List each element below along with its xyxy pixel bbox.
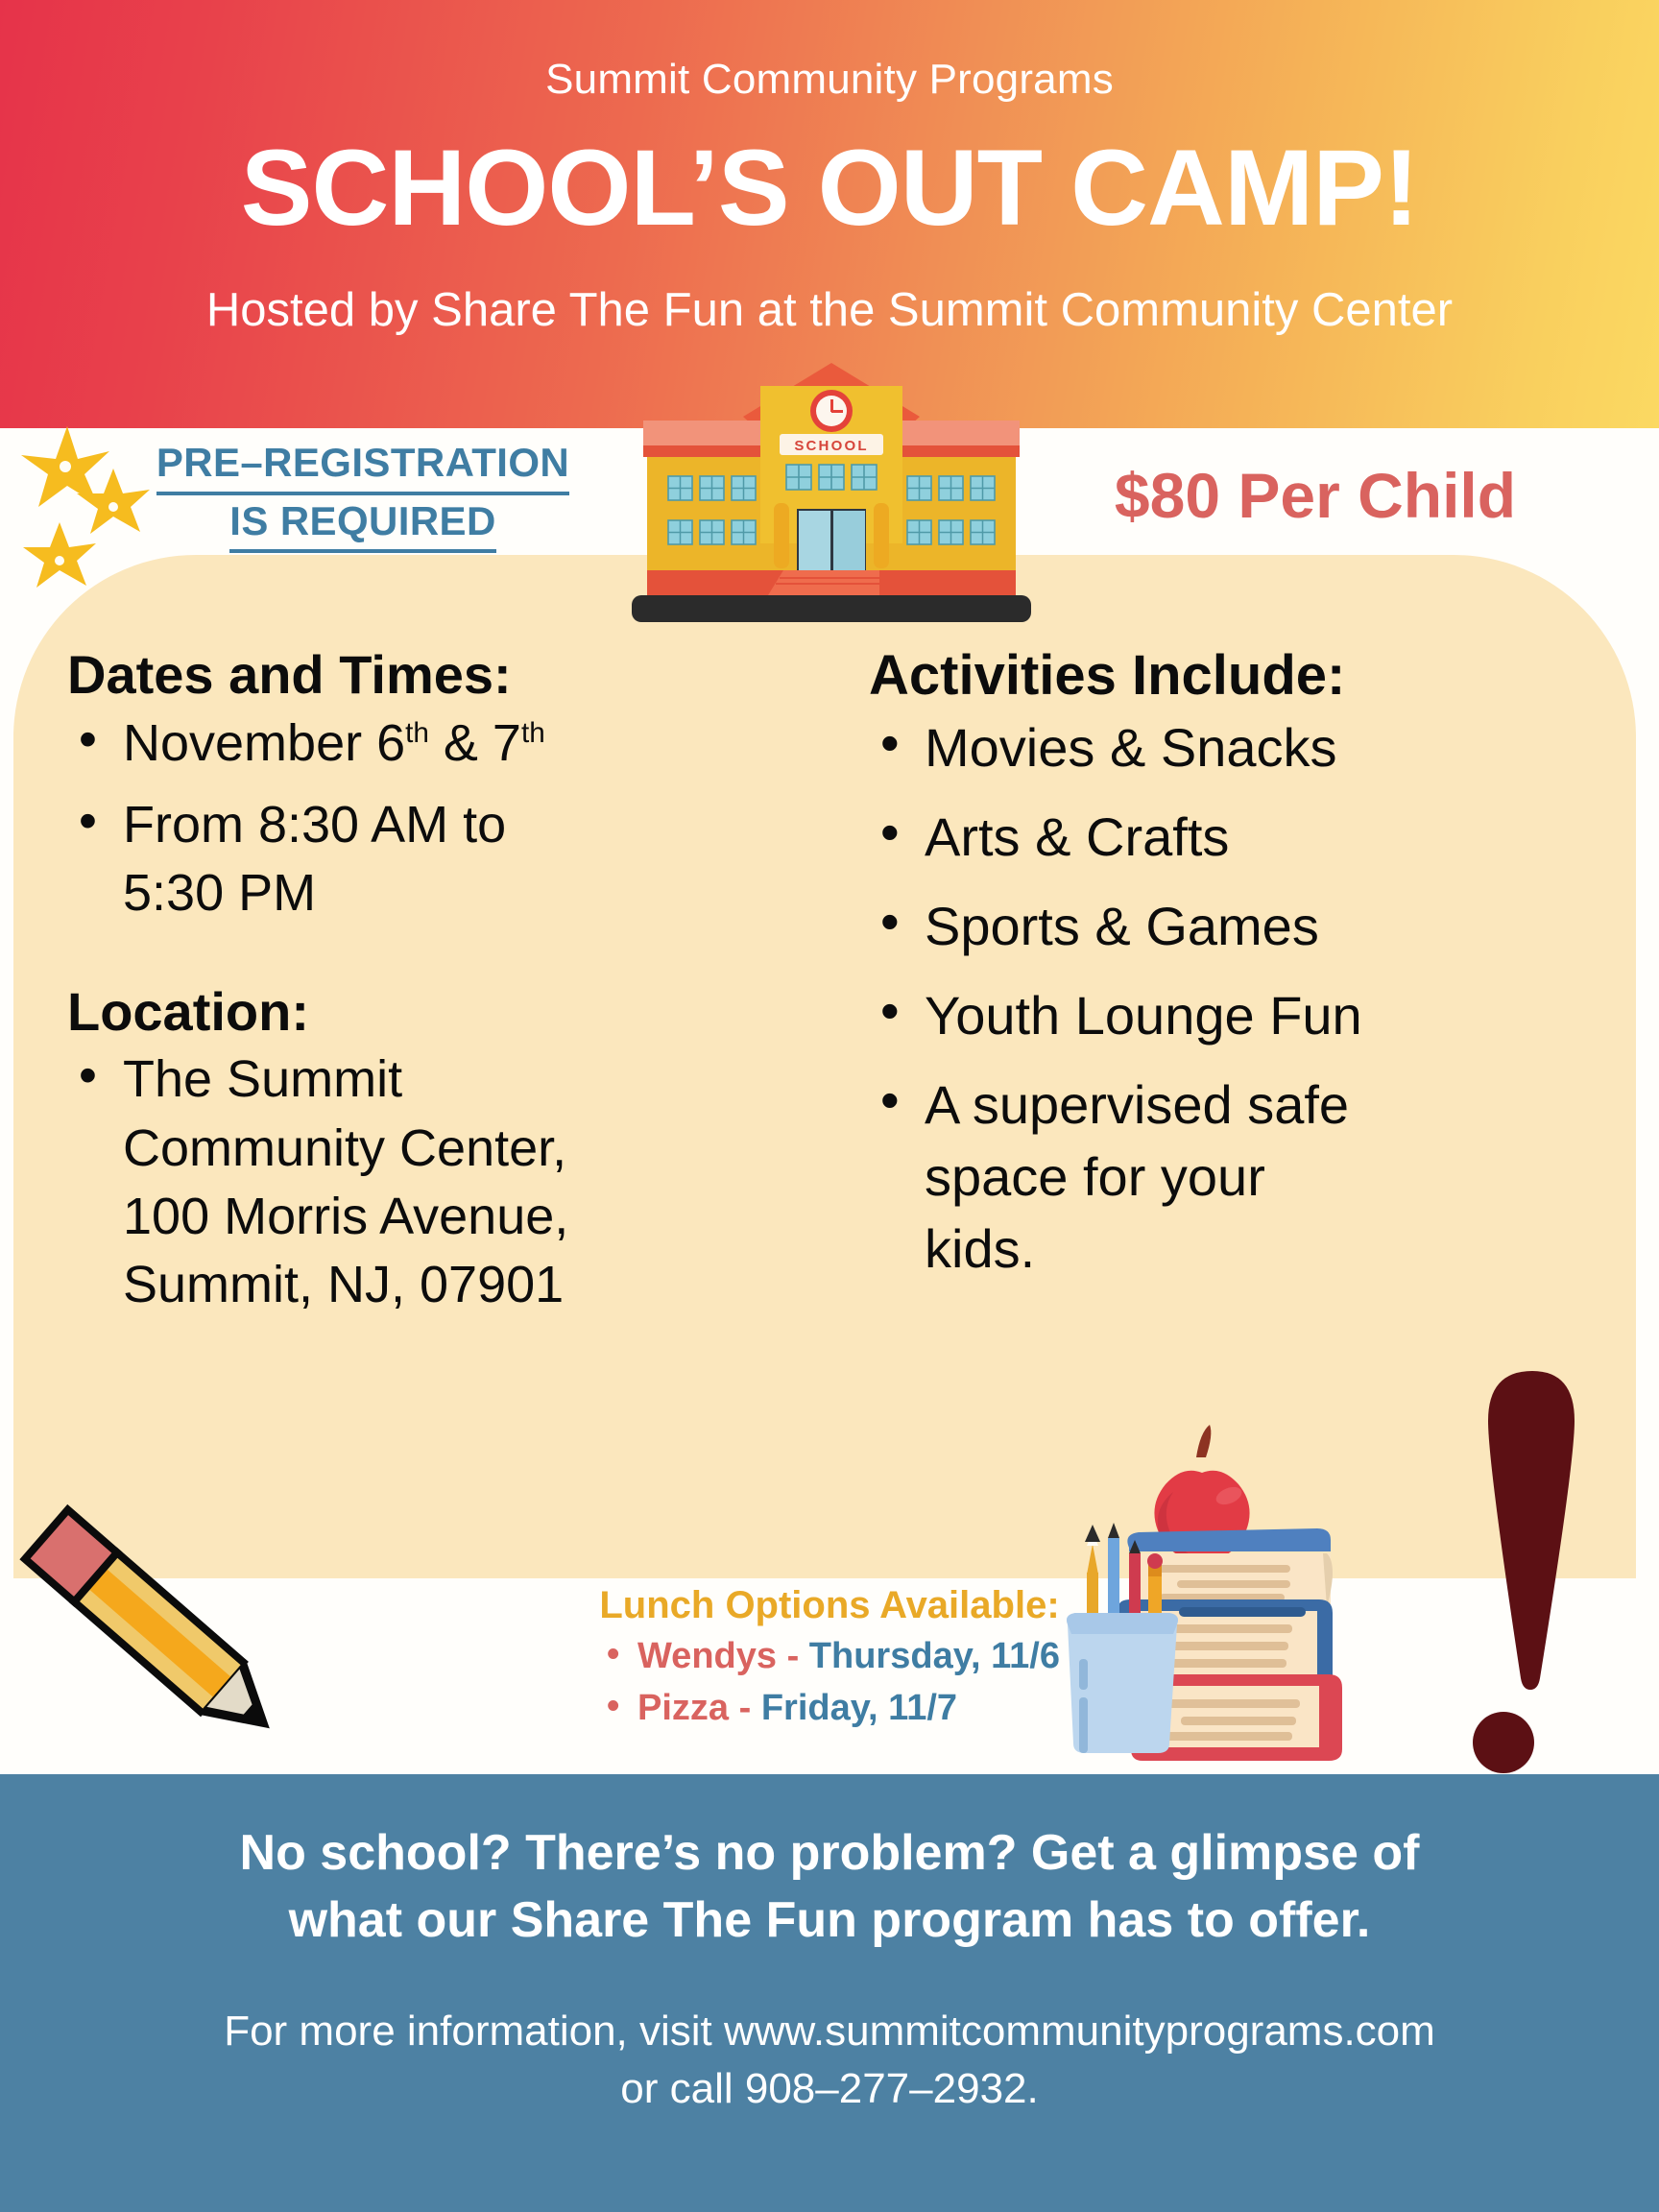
svg-text:SCHOOL: SCHOOL	[794, 438, 868, 454]
date-mid: & 7	[429, 714, 521, 772]
dates-heading: Dates and Times:	[67, 647, 864, 704]
location-list: The SummitCommunity Center,100 Morris Av…	[67, 1046, 864, 1319]
lunch-dash-1: -	[729, 1688, 761, 1728]
address-line-2: Community Center,	[123, 1119, 566, 1177]
list-item-lunch: Pizza - Friday, 11/7	[599, 1683, 1060, 1735]
activity-last-line-2: space for your	[925, 1146, 1265, 1207]
activities-list: Movies & Snacks Arts & Crafts Sports & G…	[869, 711, 1637, 1285]
dates-list: November 6th & 7th From 8:30 AM to5:30 P…	[67, 709, 864, 928]
address-line-3: 100 Morris Avenue,	[123, 1188, 568, 1245]
footer-headline-line-1: No school? There’s no problem? Get a gli…	[240, 1825, 1420, 1881]
location-heading: Location:	[67, 984, 864, 1041]
list-item: Sports & Games	[869, 890, 1637, 962]
lunch-food-0: Wendys	[637, 1636, 777, 1676]
dates-location-column: Dates and Times: November 6th & 7th From…	[67, 647, 864, 1333]
list-item: A supervised safespace for yourkids.	[869, 1069, 1637, 1285]
activities-heading: Activities Include:	[869, 647, 1637, 706]
list-item-time: From 8:30 AM to5:30 PM	[67, 791, 864, 928]
lunch-dash-0: -	[777, 1636, 809, 1676]
list-item: Youth Lounge Fun	[869, 979, 1637, 1051]
exclamation-mark-icon	[1440, 1354, 1632, 1776]
time-line-1: From 8:30 AM to	[123, 796, 506, 854]
host-subtitle: Hosted by Share The Fun at the Summit Co…	[0, 283, 1659, 337]
page-title: SCHOOL’S OUT CAMP!	[0, 134, 1659, 242]
list-item-date: November 6th & 7th	[67, 709, 864, 778]
organization-name: Summit Community Programs	[0, 56, 1659, 104]
list-item: Movies & Snacks	[869, 711, 1637, 783]
stars-cluster-icon	[17, 422, 171, 610]
footer-headline: No school? There’s no problem? Get a gli…	[38, 1820, 1621, 1954]
date-sup-1: th	[405, 717, 429, 749]
time-line-2: 5:30 PM	[123, 864, 316, 922]
footer-banner: No school? There’s no problem? Get a gli…	[0, 1774, 1659, 2212]
footer-contact: For more information, visit www.summitco…	[38, 2003, 1621, 2118]
lunch-food-1: Pizza	[637, 1688, 729, 1728]
address-line-1: The Summit	[123, 1050, 402, 1108]
lunch-list: Wendys - Thursday, 11/6 Pizza - Friday, …	[599, 1631, 1060, 1735]
prereg-line-2: IS REQUIRED	[229, 495, 495, 554]
spacer	[67, 942, 864, 984]
footer-headline-line-2: what our Share The Fun program has to of…	[289, 1892, 1371, 1948]
books-apple-icon	[1052, 1419, 1369, 1786]
pre-registration-notice: PRE–REGISTRATION IS REQUIRED	[123, 437, 603, 553]
footer-website-line: For more information, visit www.summitco…	[224, 2008, 1435, 2055]
footer-phone-line: or call 908–277–2932.	[620, 2065, 1038, 2112]
flyer-page: Summit Community Programs SCHOOL’S OUT C…	[0, 0, 1659, 2212]
lunch-day-0: Thursday, 11/6	[809, 1636, 1060, 1676]
date-sup-2: th	[521, 717, 545, 749]
school-building-icon: SCHOOL	[614, 357, 1048, 634]
list-item-lunch: Wendys - Thursday, 11/6	[599, 1631, 1060, 1683]
activity-last-line-3: kids.	[925, 1218, 1035, 1279]
prereg-line-1: PRE–REGISTRATION	[156, 437, 569, 495]
lunch-day-1: Friday, 11/7	[761, 1688, 957, 1728]
price-label: $80 Per Child	[1046, 459, 1584, 532]
activity-last-line-1: A supervised safe	[925, 1074, 1349, 1135]
list-item: Arts & Crafts	[869, 801, 1637, 873]
pencil-icon	[0, 1467, 319, 1784]
date-text: November 6	[123, 714, 405, 772]
activities-column: Activities Include: Movies & Snacks Arts…	[869, 647, 1637, 1302]
address-line-4: Summit, NJ, 07901	[123, 1256, 564, 1313]
list-item-address: The SummitCommunity Center,100 Morris Av…	[67, 1046, 864, 1319]
